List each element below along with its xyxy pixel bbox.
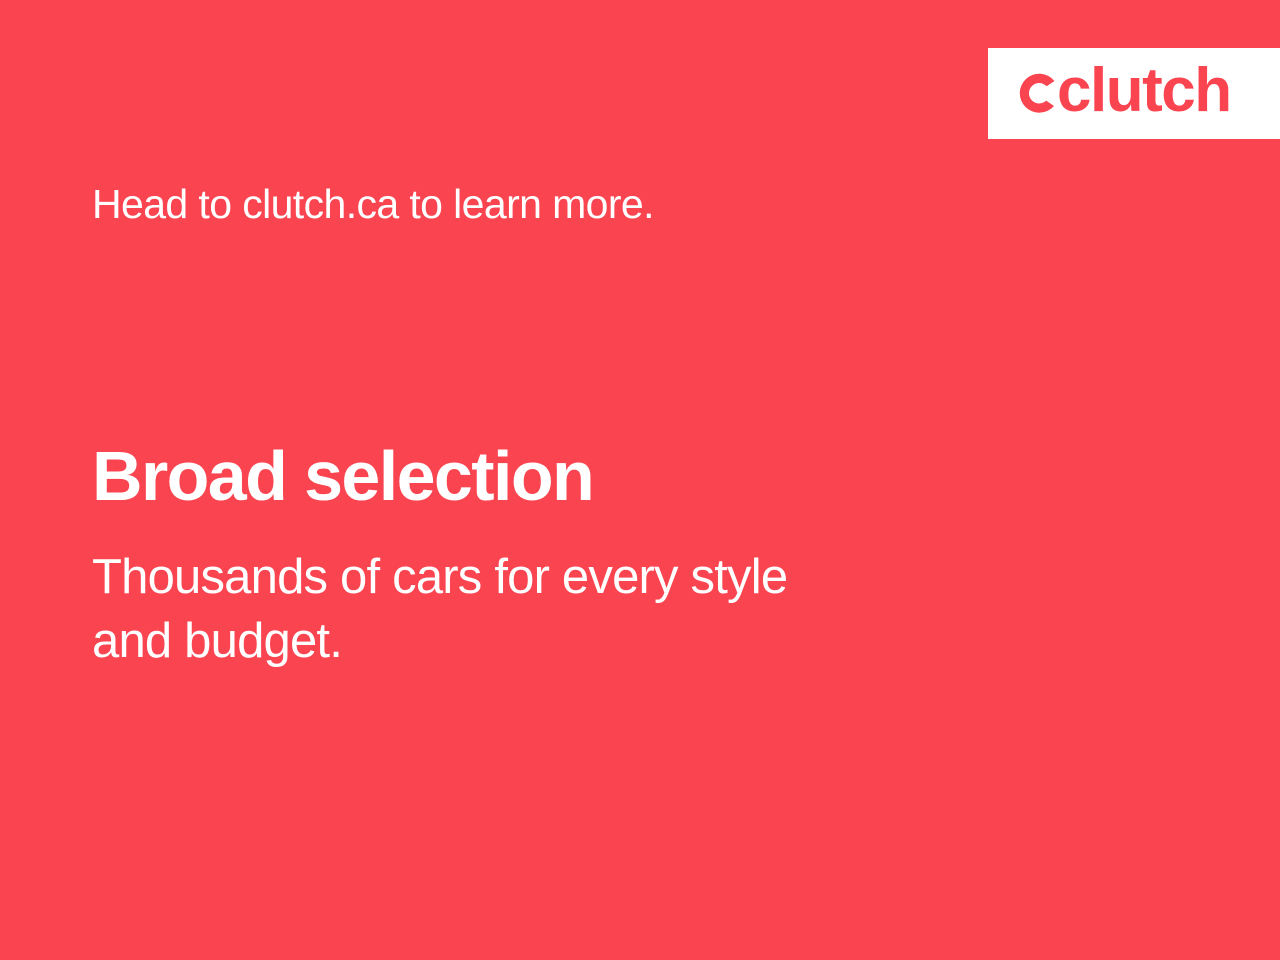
subheadline-line: and budget. [92,610,1052,674]
clutch-c-mark-icon [1014,71,1058,117]
brand-wordmark: clutch [1057,60,1231,122]
headline: Broad selection [92,440,593,514]
subheadline-line: Thousands of cars for every style [92,546,1052,610]
brand-lockup: clutch [1014,63,1231,125]
subheadline: Thousands of cars for every style and bu… [92,546,1052,673]
brand-logo-box: clutch [988,48,1280,139]
eyebrow-text: Head to clutch.ca to learn more. [92,182,654,228]
slide-canvas: clutch Head to clutch.ca to learn more. … [0,0,1280,960]
